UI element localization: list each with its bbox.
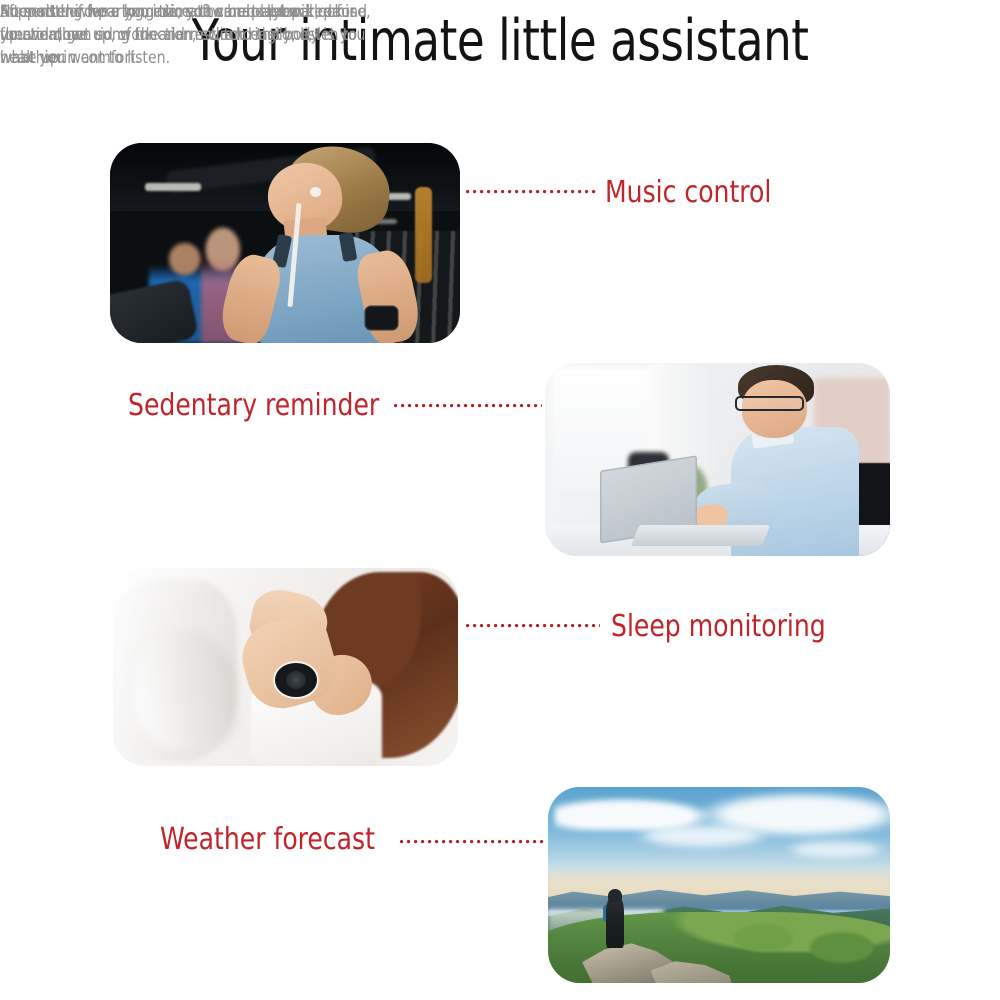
photo-layer-laptop-keyboard <box>630 525 770 546</box>
feature-heading-sedentary-reminder: Sedentary reminder <box>128 389 379 423</box>
photo-layer-glasses <box>735 396 804 411</box>
photo-layer-watch-face <box>286 671 307 689</box>
photo-layer-cloud <box>774 838 890 862</box>
photo-layer-smart-bracelet <box>366 307 398 329</box>
leader-line-sleep-monitoring <box>466 624 600 628</box>
photo-layer-treadmill <box>110 278 199 343</box>
feature-block-weather-forecast: Weather forecast No matter where you are… <box>0 0 390 46</box>
leader-line-music-control <box>466 190 598 194</box>
photo-layer-orange-rail <box>415 187 433 283</box>
photo-layer-bush <box>801 928 883 967</box>
feature-image-weather-forecast <box>548 787 890 983</box>
photo-layer-bush <box>726 920 801 955</box>
feature-heading-music-control: Music control <box>605 176 771 210</box>
feature-image-sedentary-reminder <box>545 363 890 556</box>
feature-body-weather-forecast: No matter where you are, you can be prep… <box>0 0 371 46</box>
photo-layer-hiker-head <box>608 889 622 903</box>
photo-layer-sheet-fold <box>134 631 238 750</box>
feature-image-music-control <box>110 143 460 343</box>
photo-layer-light-strip <box>145 183 201 191</box>
photo-layer-cloud <box>623 822 780 849</box>
feature-heading-sleep-monitoring: Sleep monitoring <box>611 610 826 644</box>
leader-line-weather-forecast <box>400 840 546 844</box>
photo-layer-hiker <box>606 897 624 948</box>
feature-image-sleep-monitoring <box>113 568 458 766</box>
product-feature-infographic: Your intimate little assistant <box>0 0 1000 1000</box>
feature-heading-weather-forecast: Weather forecast <box>160 823 375 857</box>
leader-line-sedentary-reminder <box>394 404 542 408</box>
